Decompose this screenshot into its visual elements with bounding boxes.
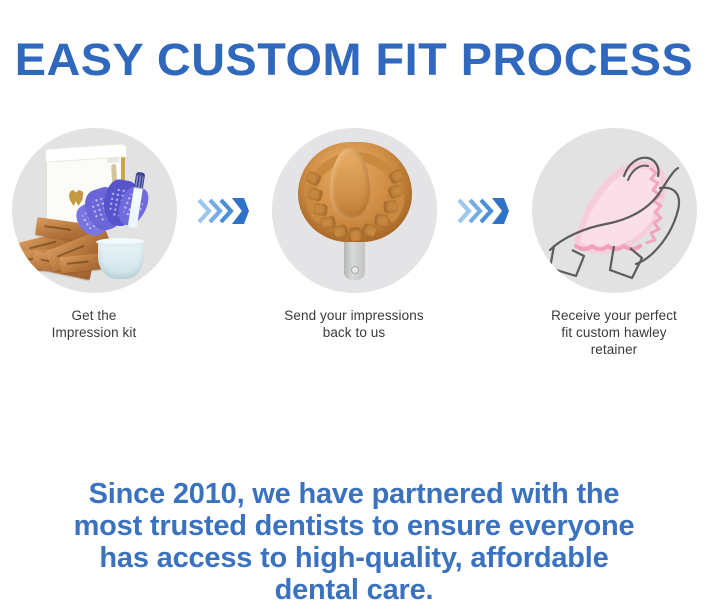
step-1-image — [12, 128, 177, 293]
page-title: EASY CUSTOM FIT PROCESS — [0, 34, 708, 86]
brand-statement: Since 2010, we have partnered with the m… — [18, 478, 690, 606]
promo-graphic: EASY CUSTOM FIT PROCESS — [0, 0, 708, 611]
impression-photo-shape — [272, 128, 437, 293]
tooth-imprint — [313, 203, 327, 216]
chevron-group-icon — [456, 196, 512, 226]
palate-mold — [330, 148, 370, 218]
step-2: Send your impressions back to us — [260, 128, 448, 341]
tooth-imprint — [374, 214, 389, 227]
step-3-caption: Receive your perfect fit custom hawley r… — [551, 307, 677, 358]
tooth-imprint — [349, 228, 361, 242]
putty-impression — [298, 142, 412, 242]
tooth-imprint — [383, 200, 397, 212]
step-1: Get the Impression kit — [0, 128, 188, 341]
process-steps: Get the Impression kit — [0, 128, 708, 363]
chevron-arrow-right-1 — [188, 128, 260, 293]
cup-shape — [98, 241, 144, 279]
step-2-caption: Send your impressions back to us — [284, 307, 423, 341]
step-3-image — [532, 128, 697, 293]
step-3: Receive your perfect fit custom hawley r… — [520, 128, 708, 358]
tooth-imprint — [321, 216, 336, 229]
hawley-retainer-shape — [532, 128, 697, 293]
chevron-arrow-right-2 — [448, 128, 520, 293]
step-2-image — [272, 128, 437, 293]
step-1-caption: Get the Impression kit — [52, 307, 137, 341]
chevron-group-icon — [196, 196, 252, 226]
